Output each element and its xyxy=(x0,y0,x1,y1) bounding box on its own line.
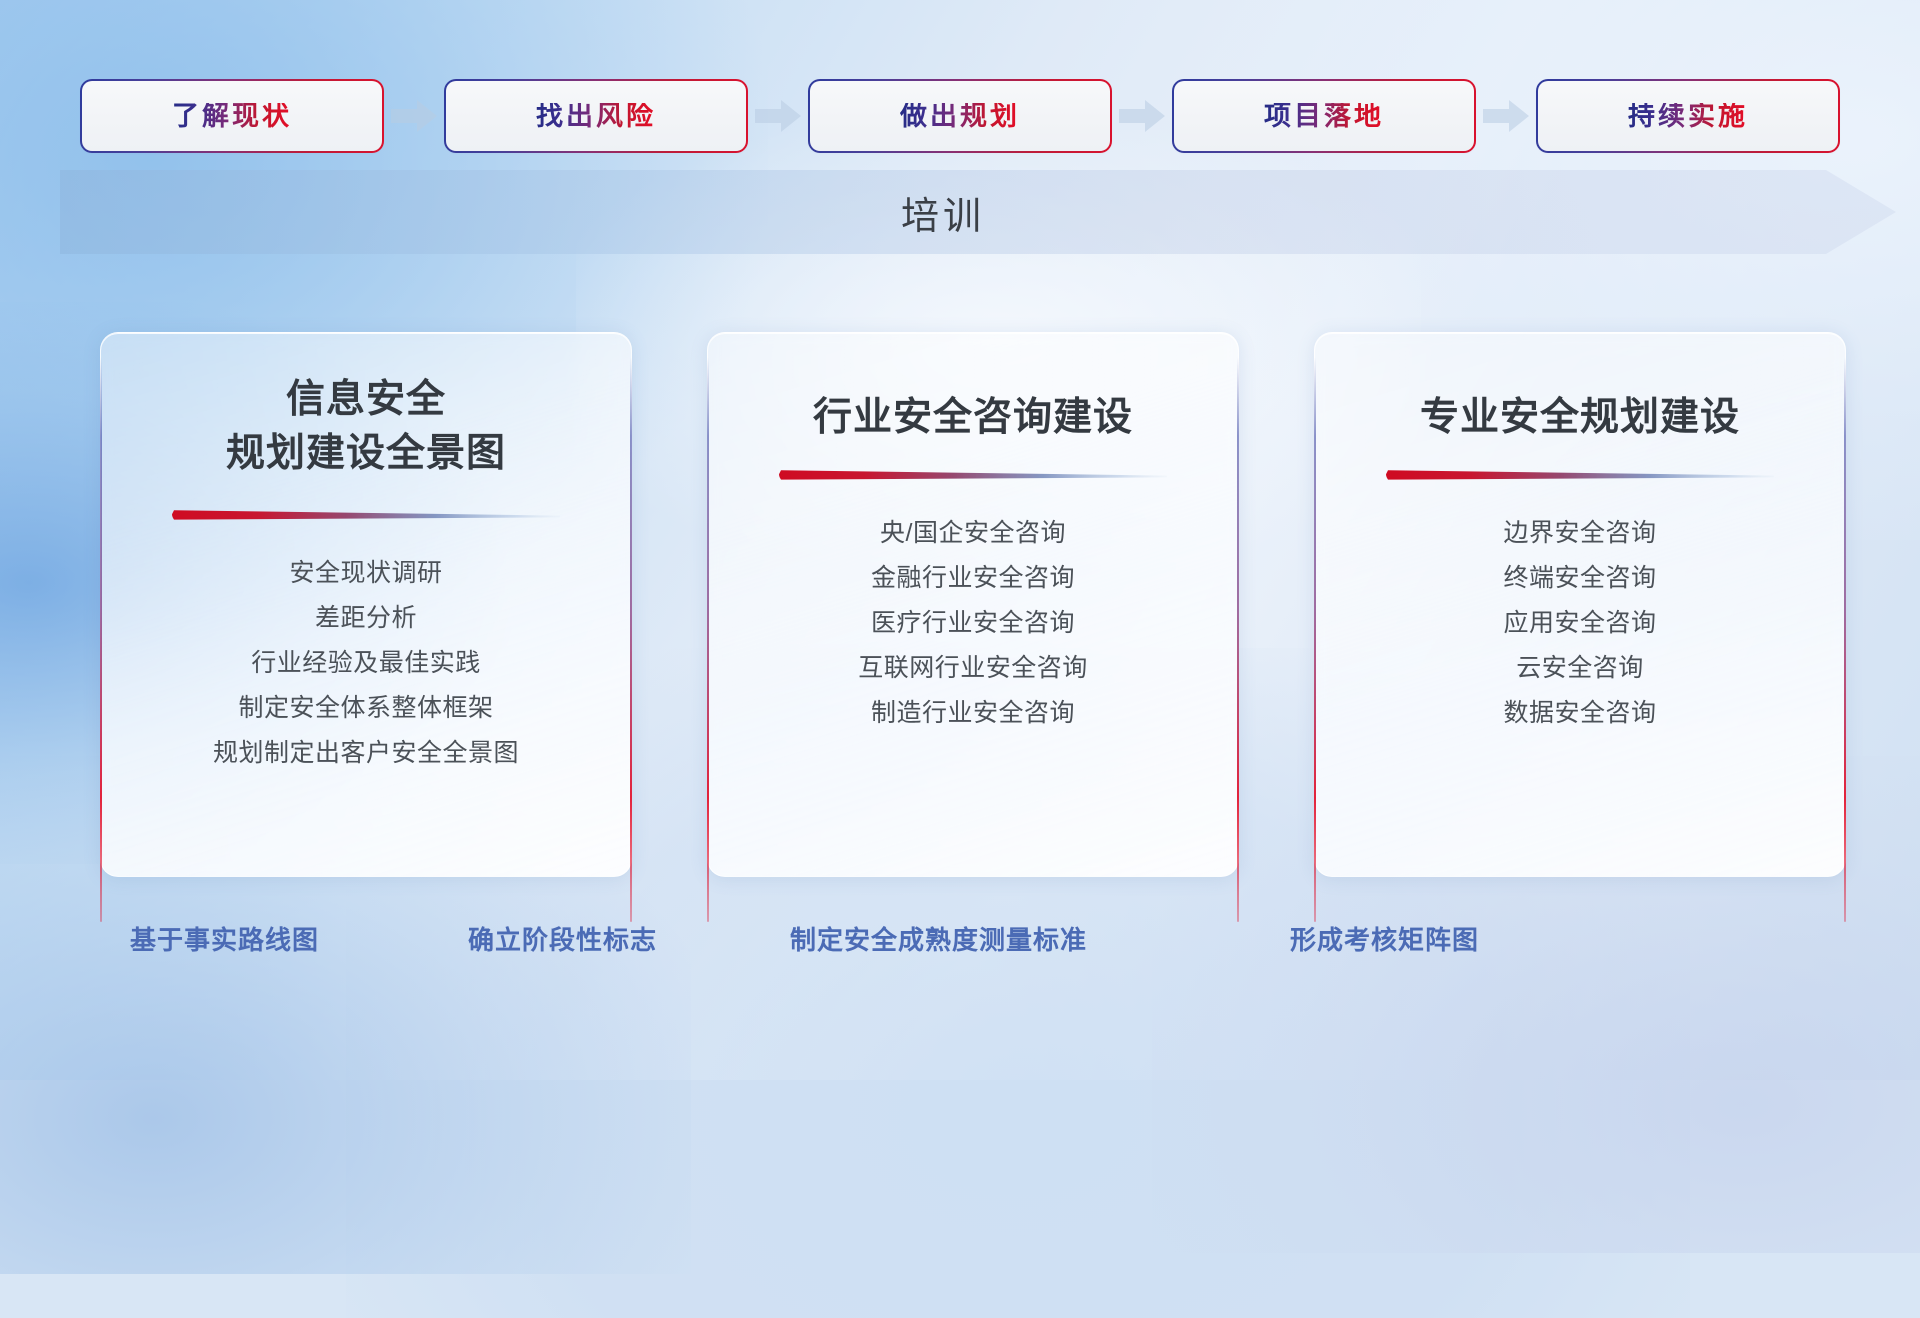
footer-caption-4: 形成考核矩阵图 xyxy=(1290,920,1479,960)
step-arrow-icon xyxy=(1119,100,1165,132)
card-edge-right xyxy=(1237,357,1239,922)
training-banner-label: 培训 xyxy=(60,170,1826,254)
card-edge-right xyxy=(1844,357,1846,922)
card-edge-left xyxy=(100,357,102,922)
process-step-4[interactable]: 项目落地 xyxy=(1174,81,1474,151)
card-list-item[interactable]: 应用安全咨询 xyxy=(1315,601,1845,646)
card-list-item[interactable]: 边界安全咨询 xyxy=(1315,511,1845,556)
card-item-list: 央/国企安全咨询金融行业安全咨询医疗行业安全咨询互联网行业安全咨询制造行业安全咨… xyxy=(708,511,1238,736)
card-list-item[interactable]: 终端安全咨询 xyxy=(1315,556,1845,601)
footer-caption-2: 确立阶段性标志 xyxy=(468,920,657,960)
footer-captions: 基于事实路线图确立阶段性标志制定安全成熟度测量标准形成考核矩阵图 xyxy=(0,920,1920,960)
card-list-item[interactable]: 云安全咨询 xyxy=(1315,646,1845,691)
process-step-1[interactable]: 了解现状 xyxy=(82,81,382,151)
card-list-item[interactable]: 数据安全咨询 xyxy=(1315,691,1845,736)
process-step-3[interactable]: 做出规划 xyxy=(810,81,1110,151)
process-step-5[interactable]: 持续实施 xyxy=(1538,81,1838,151)
process-step-label: 项目落地 xyxy=(1264,103,1384,130)
card-title: 专业安全规划建设 xyxy=(1420,391,1740,445)
card-list-item[interactable]: 规划制定出客户安全全景图 xyxy=(101,731,631,776)
card-divider-icon xyxy=(1386,467,1774,487)
cards-row: 信息安全 规划建设全景图安全现状调研差距分析行业经验及最佳实践制定安全体系整体框… xyxy=(100,332,1846,882)
process-step-label: 持续实施 xyxy=(1628,103,1748,130)
card-list-item[interactable]: 央/国企安全咨询 xyxy=(708,511,1238,556)
card-divider-icon xyxy=(172,507,560,527)
process-step-label: 做出规划 xyxy=(900,103,1020,130)
footer-caption-1: 基于事实路线图 xyxy=(130,920,319,960)
card-list-item[interactable]: 金融行业安全咨询 xyxy=(708,556,1238,601)
card-list-item[interactable]: 互联网行业安全咨询 xyxy=(708,646,1238,691)
slide-stage: 了解现状找出风险做出规划项目落地持续实施 培训 信息安全 规划建设全景图安全现状… xyxy=(0,0,1920,1080)
card-industry[interactable]: 行业安全咨询建设央/国企安全咨询金融行业安全咨询医疗行业安全咨询互联网行业安全咨… xyxy=(707,332,1239,877)
process-step-label: 找出风险 xyxy=(536,103,656,130)
card-edge-right xyxy=(630,357,632,922)
card-divider-icon xyxy=(779,467,1167,487)
card-list-item[interactable]: 安全现状调研 xyxy=(101,551,631,596)
card-professional[interactable]: 专业安全规划建设边界安全咨询终端安全咨询应用安全咨询云安全咨询数据安全咨询 xyxy=(1314,332,1846,877)
card-title: 行业安全咨询建设 xyxy=(813,391,1133,445)
card-list-item[interactable]: 差距分析 xyxy=(101,596,631,641)
card-list-item[interactable]: 医疗行业安全咨询 xyxy=(708,601,1238,646)
card-list-item[interactable]: 制定安全体系整体框架 xyxy=(101,686,631,731)
card-list-item[interactable]: 行业经验及最佳实践 xyxy=(101,641,631,686)
training-banner: 培训 xyxy=(60,170,1896,254)
step-arrow-icon xyxy=(755,100,801,132)
step-arrow-icon xyxy=(391,100,437,132)
footer-caption-3: 制定安全成熟度测量标准 xyxy=(790,920,1087,960)
process-step-2[interactable]: 找出风险 xyxy=(446,81,746,151)
card-item-list: 边界安全咨询终端安全咨询应用安全咨询云安全咨询数据安全咨询 xyxy=(1315,511,1845,736)
process-steps-row: 了解现状找出风险做出规划项目落地持续实施 xyxy=(0,80,1920,152)
card-title: 信息安全 规划建设全景图 xyxy=(226,373,506,481)
card-list-item[interactable]: 制造行业安全咨询 xyxy=(708,691,1238,736)
card-edge-left xyxy=(1314,357,1316,922)
card-edge-left xyxy=(707,357,709,922)
process-step-label: 了解现状 xyxy=(172,103,292,130)
card-panorama[interactable]: 信息安全 规划建设全景图安全现状调研差距分析行业经验及最佳实践制定安全体系整体框… xyxy=(100,332,632,877)
card-item-list: 安全现状调研差距分析行业经验及最佳实践制定安全体系整体框架规划制定出客户安全全景… xyxy=(101,551,631,776)
step-arrow-icon xyxy=(1483,100,1529,132)
